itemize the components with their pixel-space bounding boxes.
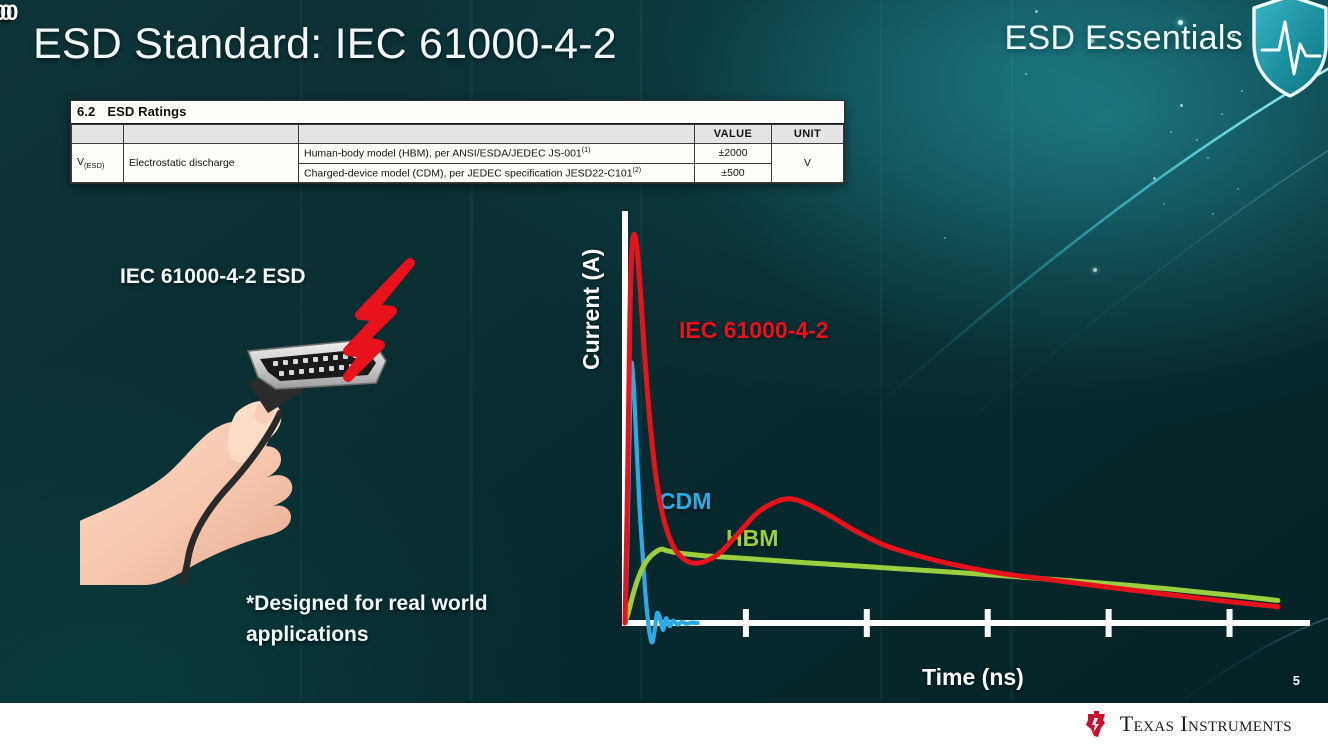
header-parameter xyxy=(124,125,299,144)
ti-texas-logo-icon xyxy=(1081,709,1111,739)
designed-note: *Designed for real world applications xyxy=(246,588,546,650)
condition-cdm-footnote: (2) xyxy=(633,167,642,174)
ti-company-name: Texas Instruments xyxy=(1120,711,1292,737)
slide-canvas: ESD Standard: IEC 61000-4-2 ESD Essentia… xyxy=(0,0,1328,746)
table-caption: 6.2ESD Ratings xyxy=(71,101,844,124)
cell-condition-hbm: Human-body model (HBM), per ANSI/ESDA/JE… xyxy=(299,144,695,164)
header-unit: UNIT xyxy=(772,125,844,144)
condition-hbm-footnote: (1) xyxy=(582,147,591,154)
esd-waveform-chart xyxy=(575,205,1315,695)
slide-footer: Texas Instruments xyxy=(0,703,1328,746)
page-number: 5 xyxy=(1293,673,1300,688)
shield-ecg-icon xyxy=(1248,0,1328,100)
condition-cdm-text: Charged-device model (CDM), per JEDEC sp… xyxy=(304,167,633,179)
header-condition xyxy=(299,125,695,144)
header-value: VALUE xyxy=(695,125,772,144)
symbol-main: V xyxy=(77,156,84,168)
table-header-row: VALUE UNIT xyxy=(72,125,844,144)
symbol-sub: (ESD) xyxy=(84,161,104,170)
page-title: ESD Standard: IEC 61000-4-2 xyxy=(33,20,617,69)
cell-value-hbm: ±2000 xyxy=(695,144,772,164)
cell-symbol: V(ESD) xyxy=(72,144,124,183)
cell-condition-cdm: Charged-device model (CDM), per JEDEC sp… xyxy=(299,163,695,183)
hand-holding-hdmi-connector-icon xyxy=(80,255,440,585)
cell-parameter: Electrostatic discharge xyxy=(124,144,299,183)
table-row: V(ESD) Electrostatic discharge Human-bod… xyxy=(72,144,844,164)
header-symbol xyxy=(72,125,124,144)
ti-logo: Texas Instruments xyxy=(1081,709,1292,739)
caption-number: 6.2 xyxy=(77,104,95,119)
ratings-grid: VALUE UNIT V(ESD) Electrostatic discharg… xyxy=(71,124,844,183)
brand-label: ESD Essentials xyxy=(1004,19,1243,58)
x-tick-label: 100 xyxy=(0,0,18,26)
condition-hbm-text: Human-body model (HBM), per ANSI/ESDA/JE… xyxy=(304,148,582,160)
caption-text: ESD Ratings xyxy=(107,104,186,119)
esd-ratings-table: 6.2ESD Ratings VALUE UNIT V(ESD) Electro… xyxy=(70,100,845,184)
cell-value-cdm: ±500 xyxy=(695,163,772,183)
cell-unit: V xyxy=(772,144,844,183)
